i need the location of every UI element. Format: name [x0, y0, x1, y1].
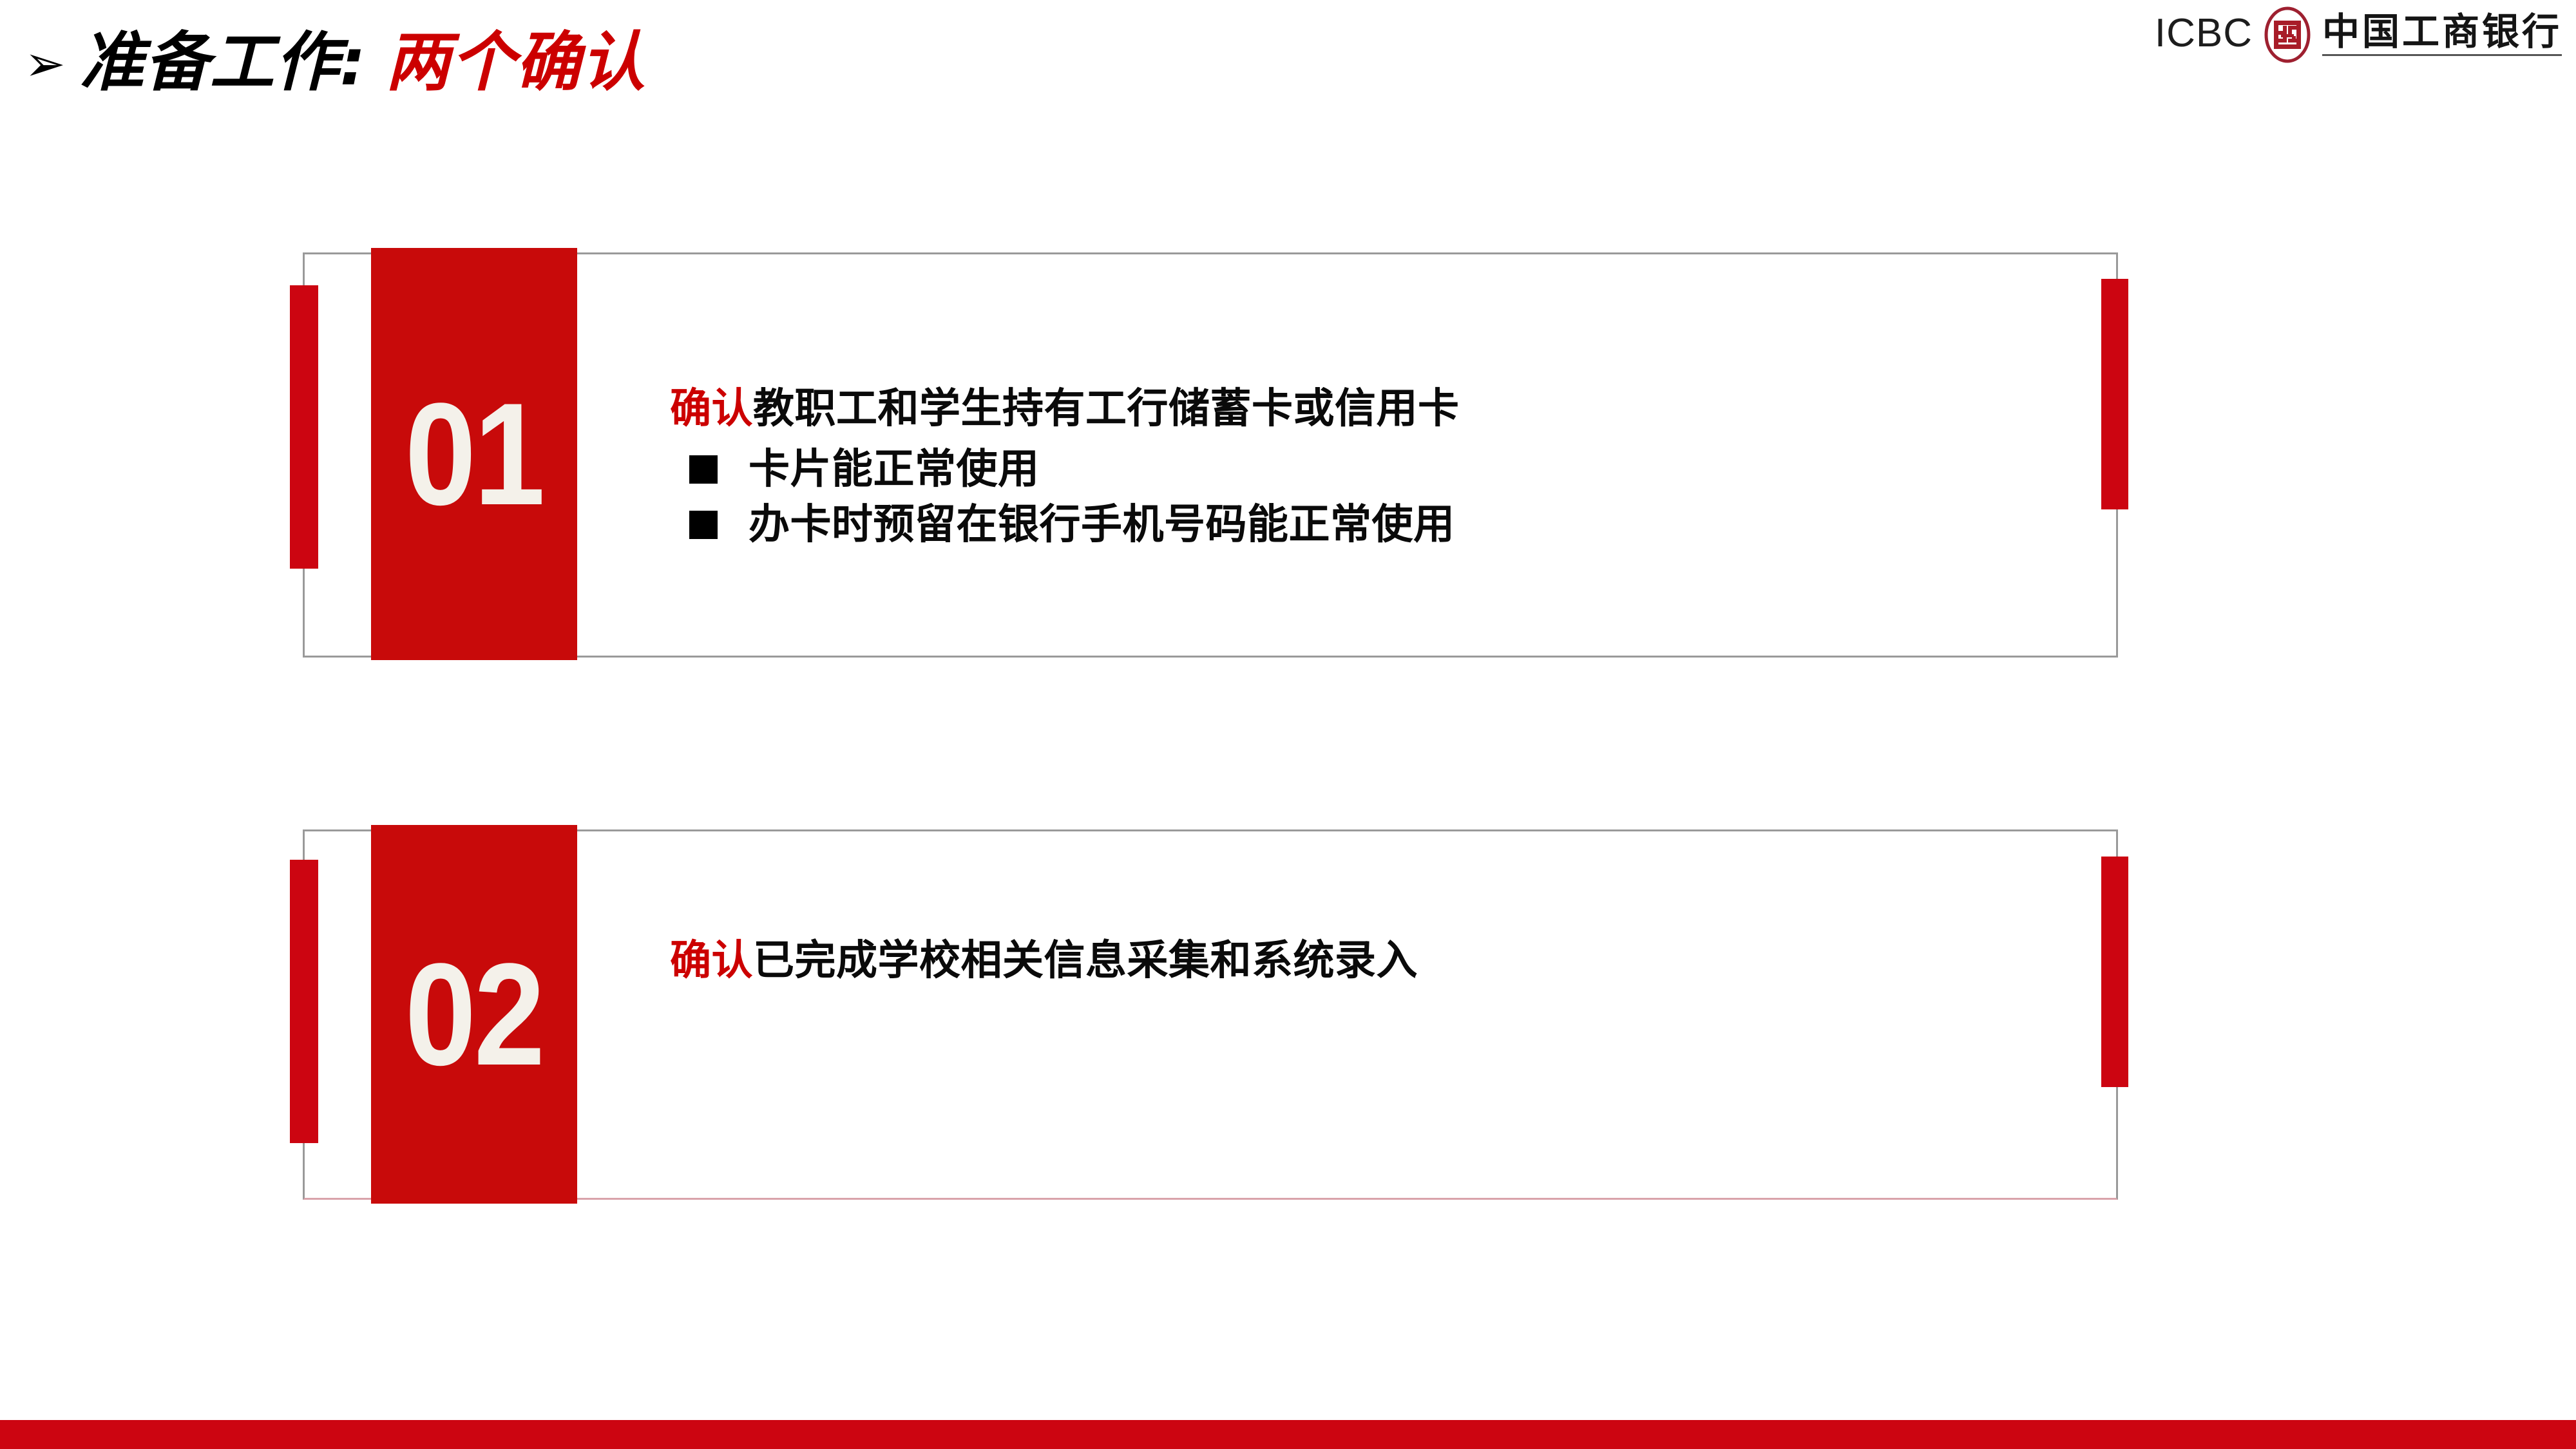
- card-01-left-accent-bar: [290, 285, 318, 569]
- card-02-number-block: 02: [371, 825, 577, 1204]
- list-item: 卡片能正常使用: [670, 444, 1460, 495]
- card-02-left-accent-bar: [290, 860, 318, 1143]
- page-title-accent: 两个确认: [386, 30, 646, 95]
- card-01-bullet-1-text: 卡片能正常使用: [749, 444, 1040, 495]
- slide-canvas: ICBC: [0, 0, 2576, 1449]
- card-01-right-accent-bar: [2101, 279, 2128, 509]
- card-02-heading-accent: 确认: [670, 937, 753, 985]
- page-title-main: 准备工作:: [80, 30, 367, 95]
- list-item: 办卡时预留在银行手机号码能正常使用: [670, 500, 1460, 550]
- square-bullet-icon: [689, 511, 718, 539]
- icbc-chinese-wordmark: 中国工商银行: [2322, 12, 2562, 57]
- card-02-heading-rest: 已完成学校相关信息采集和系统录入: [753, 937, 1418, 985]
- card-02-heading: 确认已完成学校相关信息采集和系统录入: [670, 937, 1418, 986]
- card-01-body: 确认教职工和学生持有工行储蓄卡或信用卡 卡片能正常使用 办卡时预留在银行手机号码…: [670, 385, 1460, 550]
- arrow-bullet-icon: ➢: [24, 39, 66, 88]
- card-01-heading-accent: 确认: [670, 385, 753, 433]
- icbc-emblem-icon: [2263, 6, 2312, 63]
- icbc-logo: ICBC: [2155, 4, 2562, 66]
- card-01-bullet-2-text: 办卡时预留在银行手机号码能正常使用: [749, 500, 1455, 550]
- card-01-bullet-list: 卡片能正常使用 办卡时预留在银行手机号码能正常使用: [670, 444, 1460, 550]
- card-01-heading: 确认教职工和学生持有工行储蓄卡或信用卡: [670, 385, 1460, 434]
- footer-stripe: [0, 1420, 2576, 1449]
- icbc-latin-wordmark: ICBC: [2155, 14, 2253, 56]
- card-02-body: 确认已完成学校相关信息采集和系统录入: [670, 937, 1418, 986]
- page-title: ➢ 准备工作: 两个确认: [24, 30, 646, 95]
- square-bullet-icon: [689, 455, 718, 484]
- card-02-number: 02: [405, 942, 543, 1087]
- card-01-number: 01: [405, 381, 543, 527]
- icbc-wordmark-rule: [2322, 54, 2562, 56]
- card-01-heading-rest: 教职工和学生持有工行储蓄卡或信用卡: [753, 385, 1460, 433]
- card-01-number-block: 01: [371, 248, 577, 660]
- icbc-chinese-text: 中国工商银行: [2322, 12, 2562, 51]
- card-02-right-accent-bar: [2101, 857, 2128, 1087]
